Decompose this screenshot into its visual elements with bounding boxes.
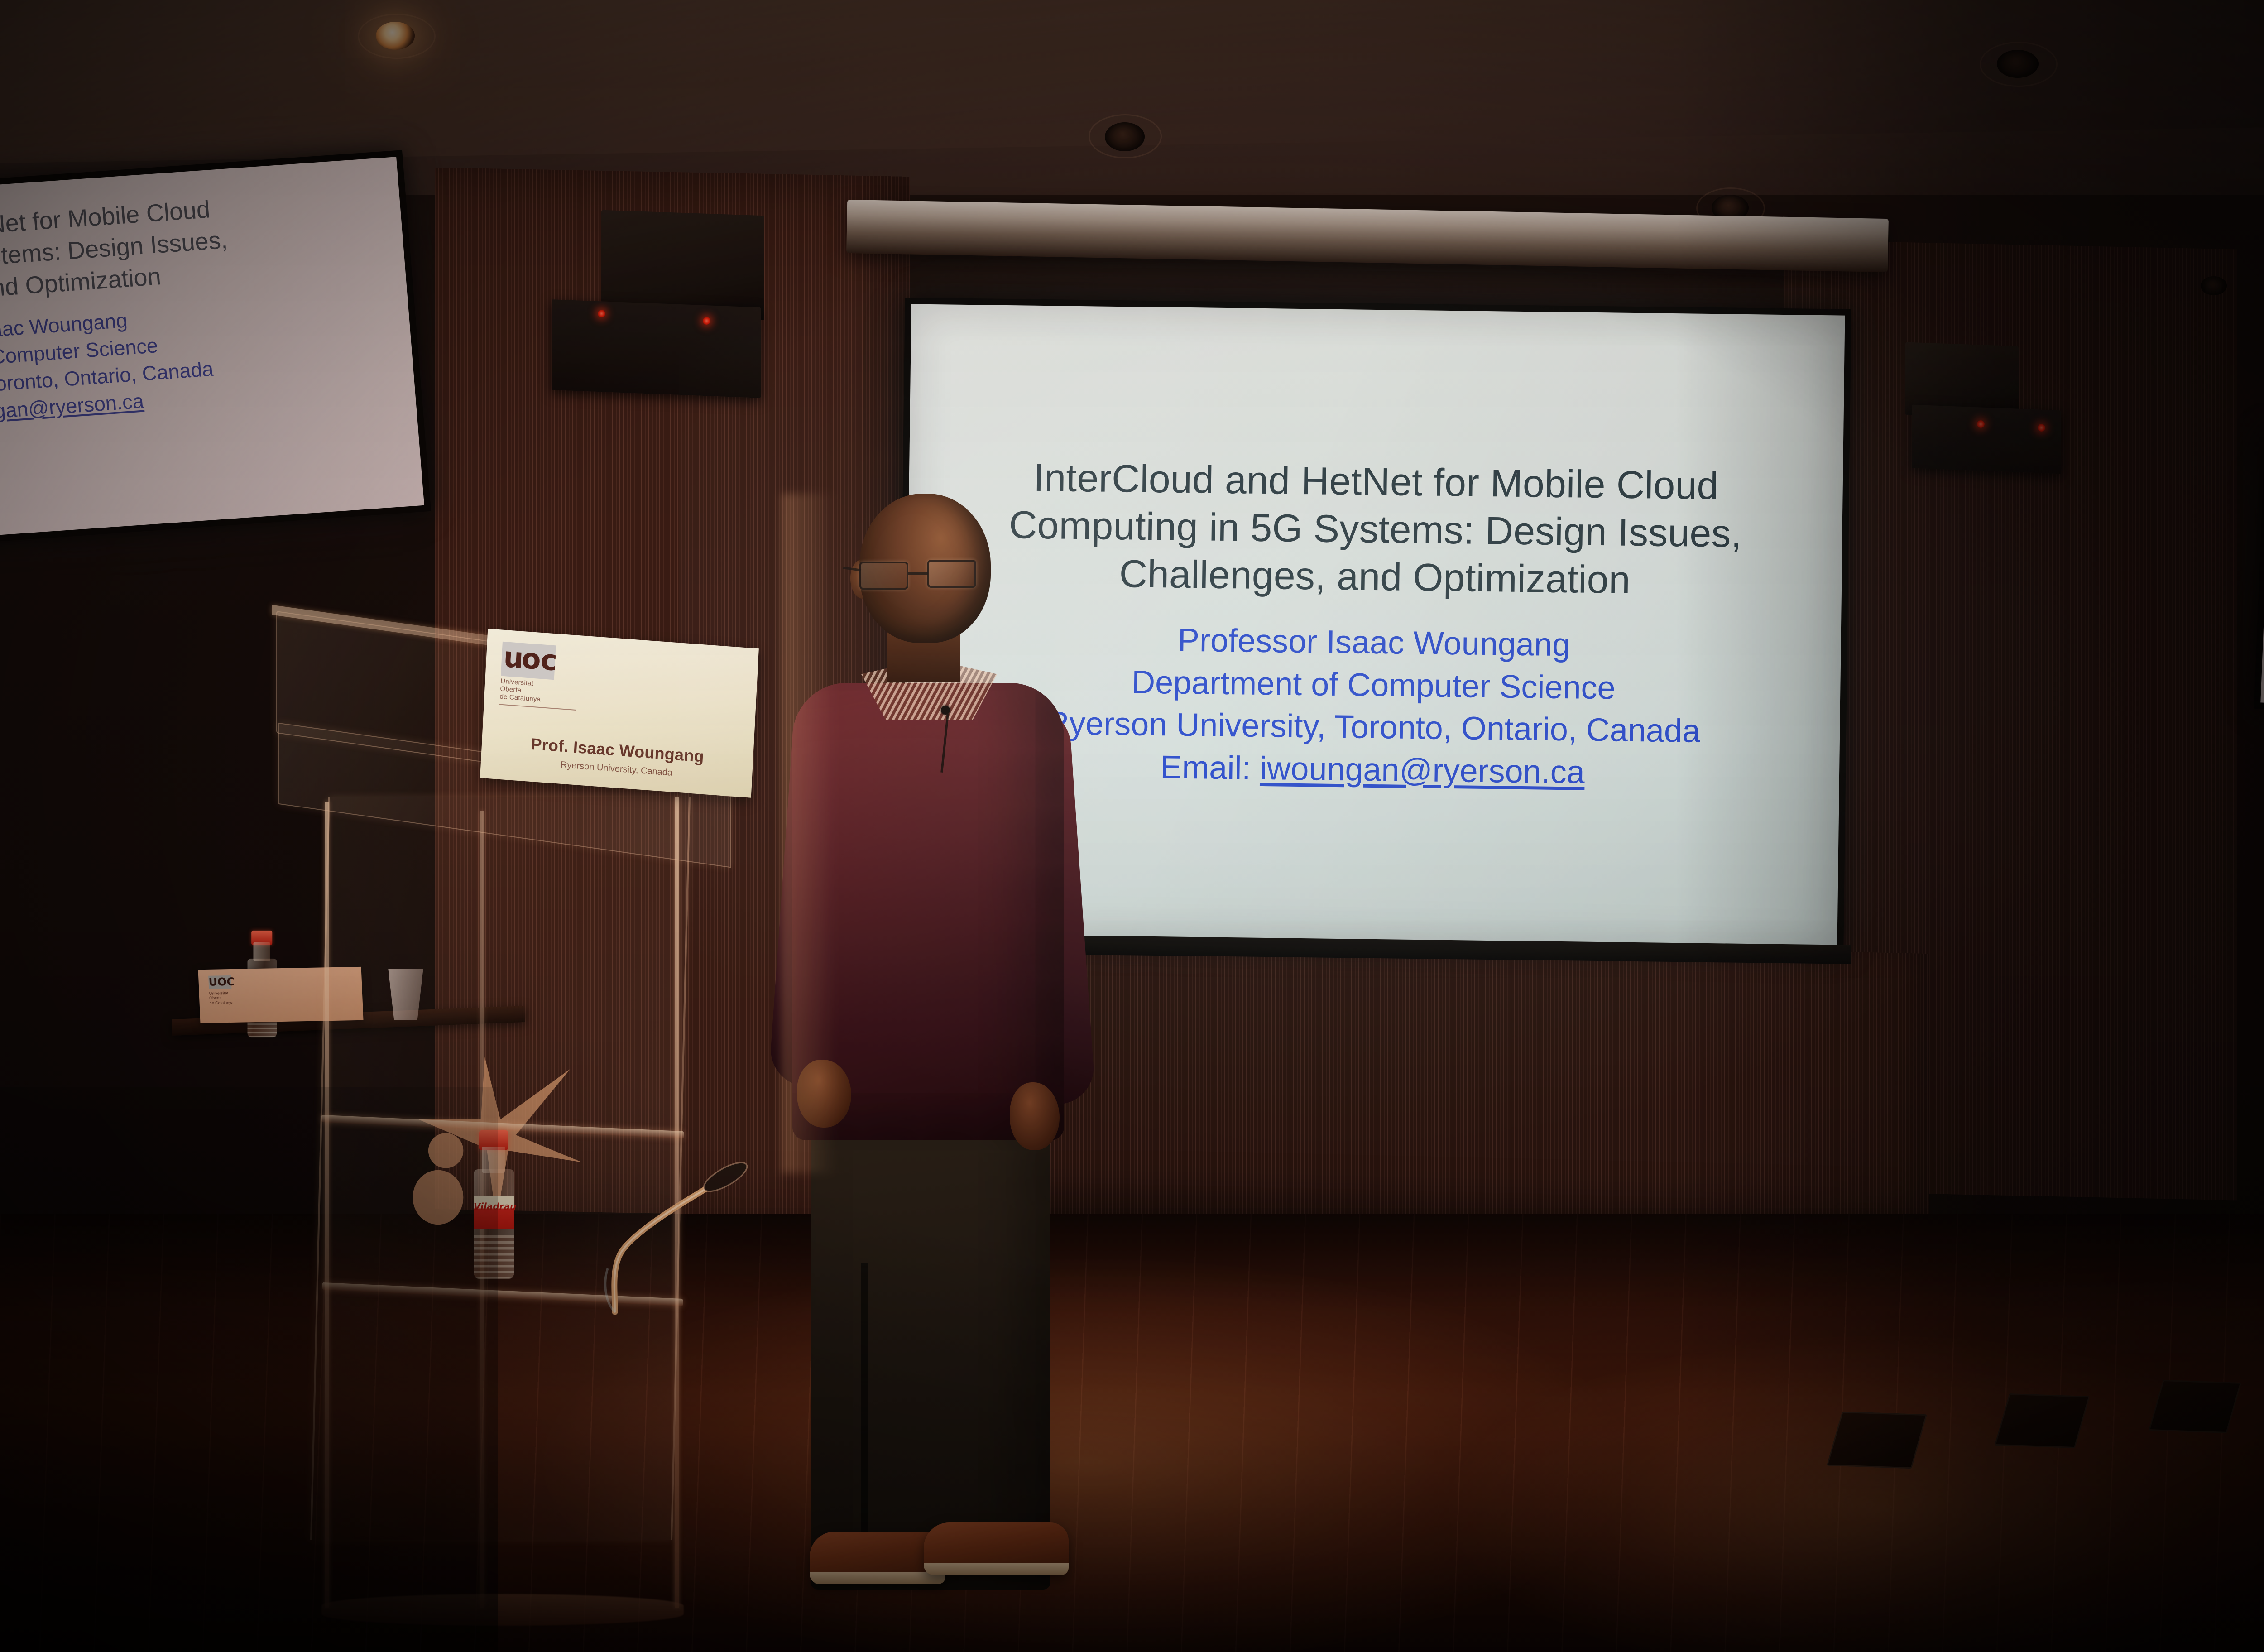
shoe-sole (810, 1572, 945, 1584)
speaker-led-indicator (598, 310, 605, 317)
slide-subtitle-block: Professor Isaac Woungang Department of C… (0, 288, 410, 452)
left-projection-screen: InterCloud and HetNet for Mobile Cloud C… (0, 150, 431, 557)
auditorium-photo: InterCloud and HetNet for Mobile Cloud C… (0, 0, 2264, 1652)
eyeglasses-icon (859, 562, 995, 593)
floor-access-panel (2149, 1380, 2241, 1433)
eyeglass-lens-left (859, 562, 908, 590)
presenter-shoe-right (924, 1522, 1069, 1575)
downlight-trim-ring (1980, 42, 2058, 87)
lapel-microphone-icon (941, 706, 950, 715)
slide-subtitle-block: Professor Isaac Woungang Department of C… (1045, 618, 1702, 795)
slide-surface: InterCloud and HetNet for Mobile Cloud C… (0, 157, 424, 550)
presenter-hand-right (1010, 1082, 1060, 1150)
slide-author: Professor Isaac Woungang (1046, 618, 1702, 668)
water-bottle[interactable]: Viladrau (466, 1128, 522, 1291)
wall-speaker-grille-left (552, 299, 761, 398)
slide-email-label: Email: (1160, 749, 1251, 786)
wall-speaker-grille-right (1912, 405, 2061, 474)
slide-title: InterCloud and HetNet for Mobile Cloud C… (1008, 454, 1742, 605)
floor-access-panel (1994, 1393, 2090, 1448)
downlight-trim-ring (1089, 114, 1162, 158)
floor-access-panel (1827, 1412, 1928, 1469)
speaker-led-indicator (1977, 420, 1985, 428)
gooseneck-microphone-icon (580, 1153, 770, 1316)
uoc-logo-icon: UOC (208, 975, 231, 989)
eyeglass-lens-right (927, 560, 976, 588)
slide-content: InterCloud and HetNet for Mobile Cloud C… (0, 181, 410, 452)
speaker-led-indicator (703, 317, 710, 325)
uoc-letter-o: o (521, 645, 542, 673)
presenter (743, 494, 1114, 1594)
ceiling-downlight-icon (2201, 276, 2227, 295)
downlight-trim-ring (358, 14, 436, 59)
bottle-ridges (474, 1235, 514, 1279)
lectern-base (321, 1594, 684, 1626)
shoe-sole (924, 1563, 1069, 1575)
speaker-led-indicator (2038, 424, 2045, 432)
uoc-letter-c: c (540, 646, 558, 675)
acrylic-lectern: Viladrau u o c Universitat Oberta de Cat… (267, 648, 779, 1652)
slide-department: Department of Computer Science (1046, 660, 1701, 711)
slide-email-link[interactable]: iwoungan@ryerson.ca (1260, 750, 1585, 791)
bottle-brand-text: Viladrau (474, 1201, 514, 1212)
uoc-subtext: Universitat Oberta de Catalunya (209, 991, 234, 1005)
uoc-wordmark: u o c (501, 642, 556, 680)
lectern-name-card: u o c Universitat Oberta de Catalunya Pr… (480, 629, 759, 798)
bottle-label: Viladrau (474, 1196, 514, 1229)
slide-email-line: Email: iwoungan@ryerson.ca (1045, 745, 1700, 795)
slide-affiliation: Ryerson University, Toronto, Ontario, Ca… (1046, 703, 1701, 753)
presenter-trousers (811, 1109, 1050, 1590)
eyeglass-bridge (908, 572, 928, 575)
presenter-hand-left (797, 1060, 851, 1128)
